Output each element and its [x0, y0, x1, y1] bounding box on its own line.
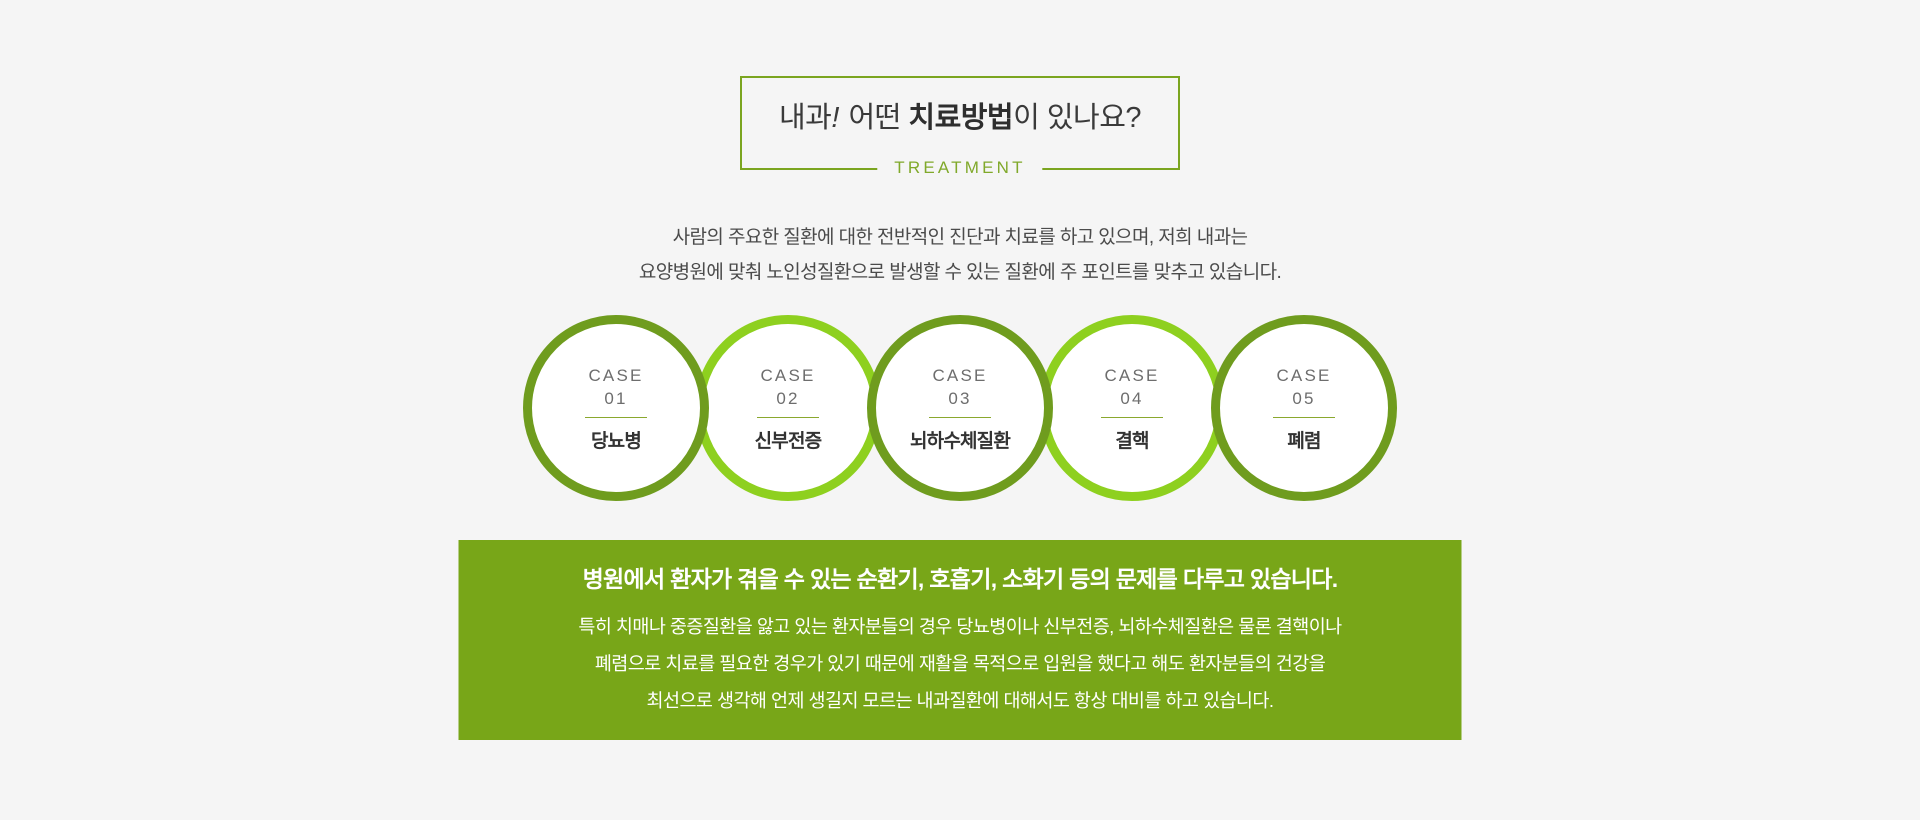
- title-middle: 어떤: [841, 102, 908, 134]
- case-label: CASE: [760, 363, 815, 388]
- case-label: CASE: [932, 363, 987, 388]
- note-body-line-2: 폐렴으로 치료를 필요한 경우가 있기 때문에 재활을 목적으로 입원을 했다고…: [578, 645, 1341, 682]
- title-prefix: 내과: [779, 102, 831, 134]
- case-label: CASE: [1104, 363, 1159, 388]
- case-divider: [585, 417, 647, 418]
- intro-paragraph: 사람의 주요한 질환에 대한 전반적인 진단과 치료를 하고 있으며, 저희 내…: [0, 220, 1920, 290]
- title-suffix: 이 있나요?: [1013, 102, 1141, 134]
- page-title: 내과! 어떤 치료방법이 있나요?: [779, 104, 1141, 133]
- intro-line-1: 사람의 주요한 질환에 대한 전반적인 진단과 치료를 하고 있으며, 저희 내…: [0, 220, 1920, 255]
- heading-box: 내과! 어떤 치료방법이 있나요? TREATMENT: [740, 76, 1180, 170]
- note-body: 특히 치매나 중증질환을 앓고 있는 환자분들의 경우 당뇨병이나 신부전증, …: [578, 608, 1341, 719]
- case-number: 03: [948, 388, 971, 410]
- case-name: 뇌하수체질환: [910, 426, 1010, 453]
- treatment-section: 내과! 어떤 치료방법이 있나요? TREATMENT 사람의 주요한 질환에 …: [0, 0, 1920, 820]
- note-body-line-1: 특히 치매나 중증질환을 앓고 있는 환자분들의 경우 당뇨병이나 신부전증, …: [578, 608, 1341, 645]
- case-item-01[interactable]: CASE 01 당뇨병: [523, 315, 709, 501]
- case-name: 폐렴: [1287, 426, 1320, 453]
- case-label: CASE: [1276, 363, 1331, 388]
- case-number: 04: [1120, 388, 1143, 410]
- note-headline: 병원에서 환자가 겪을 수 있는 순환기, 호흡기, 소화기 등의 문제를 다루…: [583, 562, 1338, 596]
- case-item-04[interactable]: CASE 04 결핵: [1039, 315, 1225, 501]
- case-divider: [929, 417, 991, 418]
- note-body-line-3: 최선으로 생각해 언제 생길지 모르는 내과질환에 대해서도 항상 대비를 하고…: [578, 682, 1341, 719]
- case-divider: [1273, 417, 1335, 418]
- case-name: 당뇨병: [591, 426, 641, 453]
- case-number: 01: [604, 388, 627, 410]
- case-number: 05: [1292, 388, 1315, 410]
- case-number: 02: [776, 388, 799, 410]
- case-name: 결핵: [1115, 426, 1148, 453]
- case-item-03[interactable]: CASE 03 뇌하수체질환: [867, 315, 1053, 501]
- heading-subtitle: TREATMENT: [877, 155, 1042, 181]
- summary-note: 병원에서 환자가 겪을 수 있는 순환기, 호흡기, 소화기 등의 문제를 다루…: [459, 540, 1462, 740]
- case-divider: [1101, 417, 1163, 418]
- case-item-05[interactable]: CASE 05 폐렴: [1211, 315, 1397, 501]
- section-heading: 내과! 어떤 치료방법이 있나요? TREATMENT: [0, 76, 1920, 170]
- case-list: CASE 01 당뇨병 CASE 02 신부전증 CASE 03 뇌하수체질환 …: [523, 315, 1397, 501]
- intro-line-2: 요양병원에 맞춰 노인성질환으로 발생할 수 있는 질환에 주 포인트를 맞추고…: [0, 255, 1920, 290]
- title-exclamation: !: [831, 102, 841, 134]
- case-label: CASE: [588, 363, 643, 388]
- case-item-02[interactable]: CASE 02 신부전증: [695, 315, 881, 501]
- case-name: 신부전증: [755, 426, 822, 453]
- title-emphasis: 치료방법: [908, 102, 1013, 134]
- case-divider: [757, 417, 819, 418]
